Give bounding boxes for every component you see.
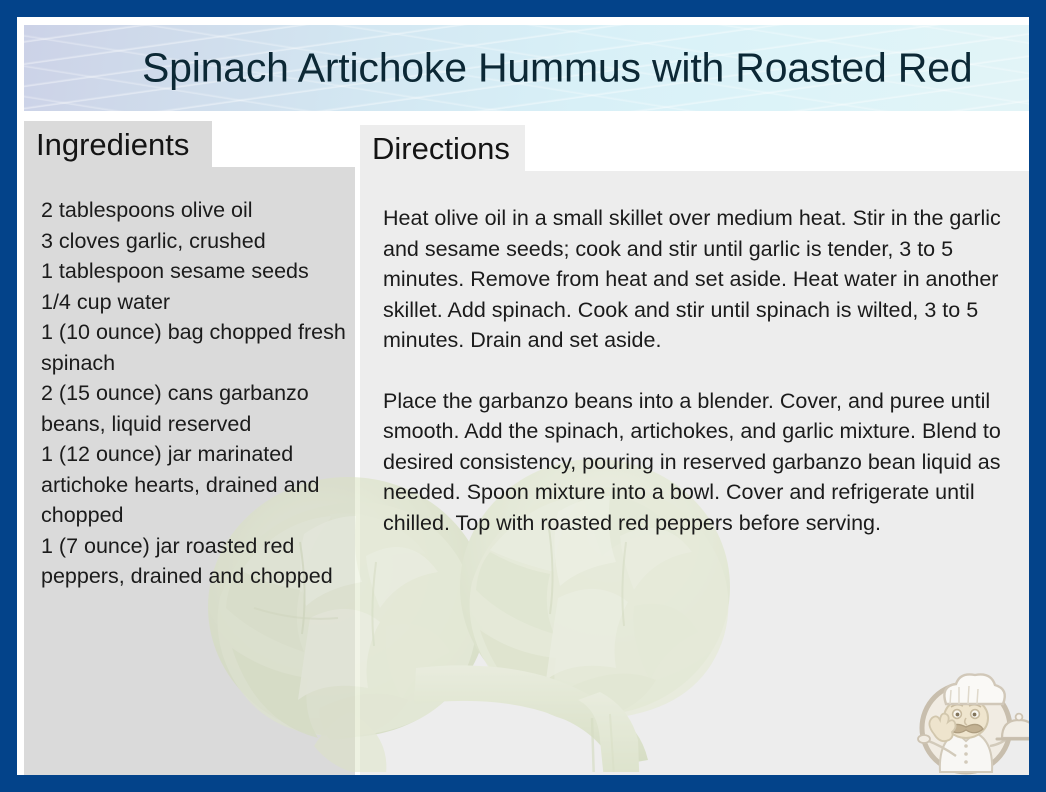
card-page: Spinach Artichoke Hummus with Roasted Re… [17,17,1029,775]
frame-border-right [1029,0,1046,792]
directions-paragraph: Heat olive oil in a small skillet over m… [383,203,1005,356]
ingredient-item: 1 (7 ounce) jar roasted red peppers, dra… [41,531,353,592]
directions-paragraph: Place the garbanzo beans into a blender.… [383,386,1005,539]
ingredient-item: 1/4 cup water [41,287,353,318]
title-banner: Spinach Artichoke Hummus with Roasted Re… [24,25,1029,111]
directions-heading: Directions [360,125,525,171]
ingredients-heading: Ingredients [24,121,212,167]
page-title: Spinach Artichoke Hummus with Roasted Re… [142,48,972,89]
recipe-card: Spinach Artichoke Hummus with Roasted Re… [0,0,1046,792]
frame-border-top [0,0,1046,17]
ingredient-item: 2 tablespoons olive oil [41,195,353,226]
ingredients-list: 2 tablespoons olive oil 3 cloves garlic,… [41,195,353,592]
ingredient-item: 1 tablespoon sesame seeds [41,256,353,287]
ingredient-item: 2 (15 ounce) cans garbanzo beans, liquid… [41,378,353,439]
frame-border-bottom [0,775,1046,792]
frame-border-left [0,0,17,792]
ingredient-item: 1 (10 ounce) bag chopped fresh spinach [41,317,353,378]
directions-text: Heat olive oil in a small skillet over m… [383,203,1005,538]
ingredient-item: 3 cloves garlic, crushed [41,226,353,257]
ingredient-item: 1 (12 ounce) jar marinated artichoke hea… [41,439,353,531]
